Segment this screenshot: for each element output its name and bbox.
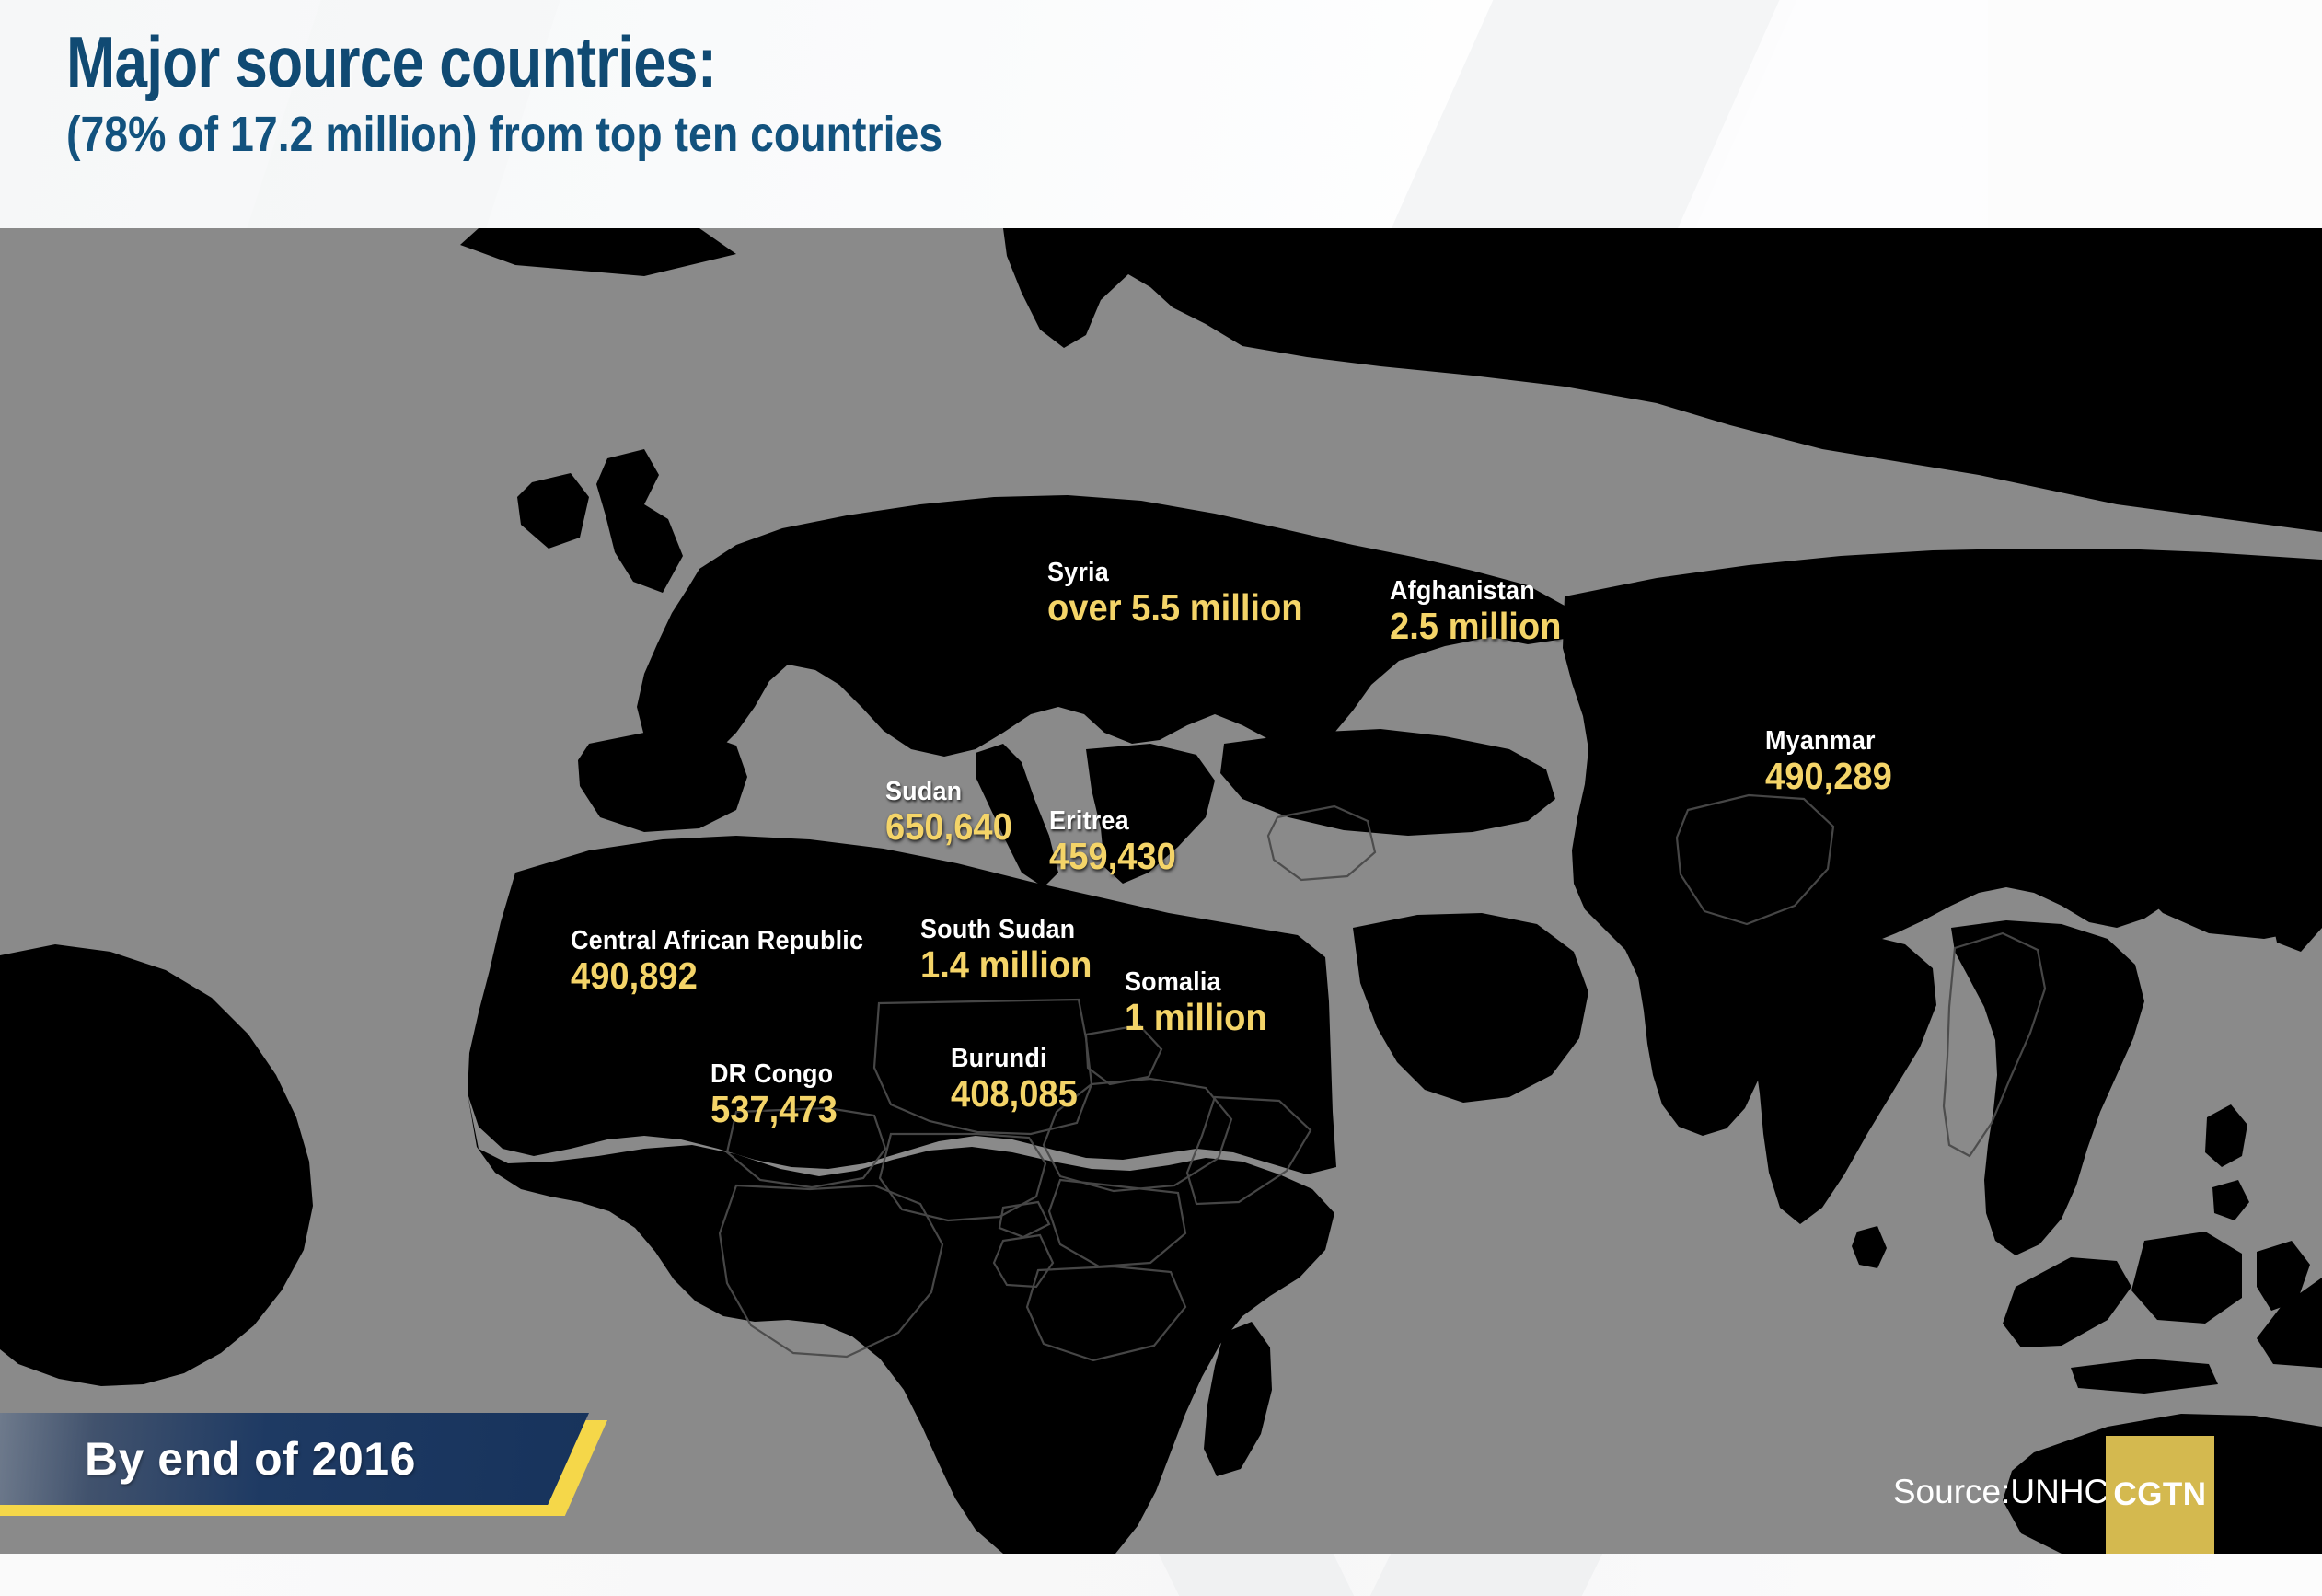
page-title: Major source countries: [66, 26, 902, 98]
date-banner-body: By end of 2016 [0, 1413, 589, 1505]
world-map: Syria over 5.5 million Afghanistan 2.5 m… [0, 228, 2322, 1554]
map-label-somalia-name: Somalia [1125, 969, 1267, 996]
date-banner: By end of 2016 [0, 1413, 663, 1523]
map-label-eritrea-value: 459,430 [1049, 838, 1176, 875]
map-label-afghanistan-value: 2.5 million [1390, 607, 1561, 645]
map-label-burundi: Burundi 408,085 [951, 1046, 1087, 1113]
world-map-svg [0, 228, 2322, 1554]
map-label-eritrea: Eritrea 459,430 [1049, 808, 1185, 875]
bottom-strip [0, 1554, 2322, 1596]
source-attribution: Source:UNHCR [1893, 1473, 2133, 1511]
map-label-burundi-value: 408,085 [951, 1075, 1078, 1113]
map-label-burundi-name: Burundi [951, 1046, 1078, 1072]
map-label-south-sudan-value: 1.4 million [920, 946, 1092, 984]
map-label-somalia-value: 1 million [1125, 999, 1267, 1036]
map-label-sudan-name: Sudan [885, 779, 1012, 805]
map-label-somalia: Somalia 1 million [1125, 969, 1277, 1036]
map-label-central-african-republic: Central African Republic 490,892 [571, 928, 885, 995]
map-label-south-sudan-name: South Sudan [920, 917, 1092, 943]
map-label-syria-value: over 5.5 million [1047, 589, 1303, 627]
land-iberia [578, 733, 747, 832]
map-label-sudan-value: 650,640 [885, 808, 1012, 846]
map-label-central-african-republic-name: Central African Republic [571, 928, 863, 954]
bottom-strip-shape-2 [1370, 1554, 1602, 1596]
cgtn-logo-label: CGTN [2113, 1476, 2206, 1513]
map-label-eritrea-name: Eritrea [1049, 808, 1176, 835]
map-label-myanmar: Myanmar 490,289 [1765, 728, 1901, 795]
map-label-dr-congo: DR Congo 537,473 [710, 1061, 847, 1128]
header-decoration-shape-3 [1988, 0, 2322, 228]
map-label-sudan: Sudan 650,640 [885, 779, 1022, 846]
bottom-strip-shape-1 [1159, 1554, 1354, 1596]
map-label-central-african-republic-value: 490,892 [571, 957, 863, 995]
map-label-myanmar-value: 490,289 [1765, 758, 1892, 795]
header-banner: Major source countries: (78% of 17.2 mil… [0, 0, 2322, 228]
map-label-syria-name: Syria [1047, 560, 1303, 586]
title-block: Major source countries: (78% of 17.2 mil… [66, 26, 1085, 161]
map-label-south-sudan: South Sudan 1.4 million [920, 917, 1105, 984]
map-label-dr-congo-value: 537,473 [710, 1091, 838, 1128]
map-label-myanmar-name: Myanmar [1765, 728, 1892, 755]
cgtn-logo: CGTN [2106, 1436, 2214, 1554]
page-subtitle: (78% of 17.2 million) from top ten count… [66, 109, 942, 161]
map-label-afghanistan: Afghanistan 2.5 million [1390, 578, 1575, 645]
date-banner-label: By end of 2016 [85, 1432, 416, 1486]
map-label-dr-congo-name: DR Congo [710, 1061, 838, 1088]
map-label-afghanistan-name: Afghanistan [1390, 578, 1561, 605]
map-label-syria: Syria over 5.5 million [1047, 560, 1323, 627]
